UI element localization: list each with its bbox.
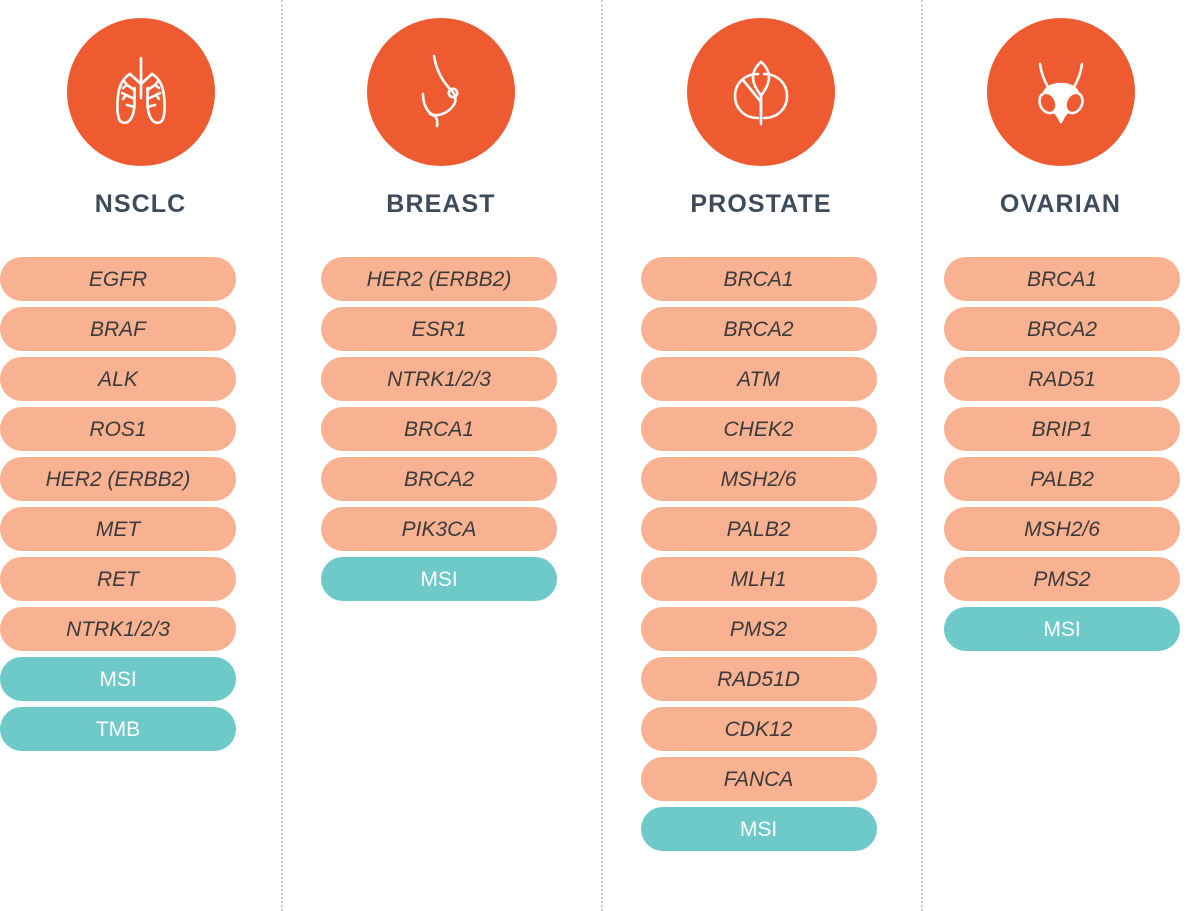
column-nsclc: NSCLC EGFRBRAFALKROS1HER2 (ERBB2)METRETN… [0, 0, 281, 911]
gene-pill[interactable]: CDK12 [641, 707, 877, 751]
gene-pill[interactable]: NTRK1/2/3 [0, 607, 236, 651]
gene-pill[interactable]: PMS2 [641, 607, 877, 651]
gene-pill[interactable]: ALK [0, 357, 236, 401]
gene-pill[interactable]: PALB2 [641, 507, 877, 551]
gene-pill[interactable]: MSH2/6 [944, 507, 1180, 551]
gene-pill[interactable]: RAD51D [641, 657, 877, 701]
gene-pill[interactable]: RAD51 [944, 357, 1180, 401]
gene-pill[interactable]: MET [0, 507, 236, 551]
gene-pill[interactable]: RET [0, 557, 236, 601]
gene-pill[interactable]: BRAF [0, 307, 236, 351]
ovaries-icon-badge [987, 18, 1135, 166]
pill-list-ovarian: BRCA1BRCA2RAD51BRIP1PALB2MSH2/6PMS2MSI [921, 257, 1200, 651]
prostate-icon-badge [687, 18, 835, 166]
gene-pill[interactable]: ATM [641, 357, 877, 401]
biomarker-panel-board: NSCLC EGFRBRAFALKROS1HER2 (ERBB2)METRETN… [0, 0, 1200, 911]
pill-list-nsclc: EGFRBRAFALKROS1HER2 (ERBB2)METRETNTRK1/2… [0, 257, 281, 751]
gene-pill[interactable]: FANCA [641, 757, 877, 801]
gene-pill[interactable]: PMS2 [944, 557, 1180, 601]
column-title-ovarian: OVARIAN [1000, 192, 1121, 217]
biomarker-pill[interactable]: TMB [0, 707, 236, 751]
gene-pill[interactable]: EGFR [0, 257, 236, 301]
prostate-icon [713, 44, 809, 140]
gene-pill[interactable]: BRCA1 [944, 257, 1180, 301]
biomarker-pill[interactable]: MSI [944, 607, 1180, 651]
gene-pill[interactable]: BRCA2 [641, 307, 877, 351]
biomarker-pill[interactable]: MSI [321, 557, 557, 601]
gene-pill[interactable]: ROS1 [0, 407, 236, 451]
lungs-icon-badge [67, 18, 215, 166]
gene-pill[interactable]: MLH1 [641, 557, 877, 601]
biomarker-pill[interactable]: MSI [0, 657, 236, 701]
column-title-prostate: PROSTATE [690, 192, 831, 217]
gene-pill[interactable]: NTRK1/2/3 [321, 357, 557, 401]
column-ovarian: OVARIAN BRCA1BRCA2RAD51BRIP1PALB2MSH2/6P… [921, 0, 1200, 911]
gene-pill[interactable]: BRCA2 [321, 457, 557, 501]
ovaries-icon [1013, 44, 1109, 140]
column-title-nsclc: NSCLC [95, 192, 187, 217]
gene-pill[interactable]: HER2 (ERBB2) [0, 457, 236, 501]
biomarker-pill[interactable]: MSI [641, 807, 877, 851]
gene-pill[interactable]: BRCA1 [321, 407, 557, 451]
pill-list-prostate: BRCA1BRCA2ATMCHEK2MSH2/6PALB2MLH1PMS2RAD… [601, 257, 921, 851]
gene-pill[interactable]: BRIP1 [944, 407, 1180, 451]
gene-pill[interactable]: ESR1 [321, 307, 557, 351]
gene-pill[interactable]: BRCA1 [641, 257, 877, 301]
gene-pill[interactable]: CHEK2 [641, 407, 877, 451]
gene-pill[interactable]: PIK3CA [321, 507, 557, 551]
breast-icon-badge [367, 18, 515, 166]
gene-pill[interactable]: HER2 (ERBB2) [321, 257, 557, 301]
column-breast: BREAST HER2 (ERBB2)ESR1NTRK1/2/3BRCA1BRC… [281, 0, 601, 911]
lungs-icon [93, 44, 189, 140]
pill-list-breast: HER2 (ERBB2)ESR1NTRK1/2/3BRCA1BRCA2PIK3C… [281, 257, 601, 601]
gene-pill[interactable]: BRCA2 [944, 307, 1180, 351]
gene-pill[interactable]: MSH2/6 [641, 457, 877, 501]
columns-container: NSCLC EGFRBRAFALKROS1HER2 (ERBB2)METRETN… [0, 0, 1200, 911]
column-prostate: PROSTATE BRCA1BRCA2ATMCHEK2MSH2/6PALB2ML… [601, 0, 921, 911]
gene-pill[interactable]: PALB2 [944, 457, 1180, 501]
column-title-breast: BREAST [386, 192, 495, 217]
breast-icon [393, 44, 489, 140]
